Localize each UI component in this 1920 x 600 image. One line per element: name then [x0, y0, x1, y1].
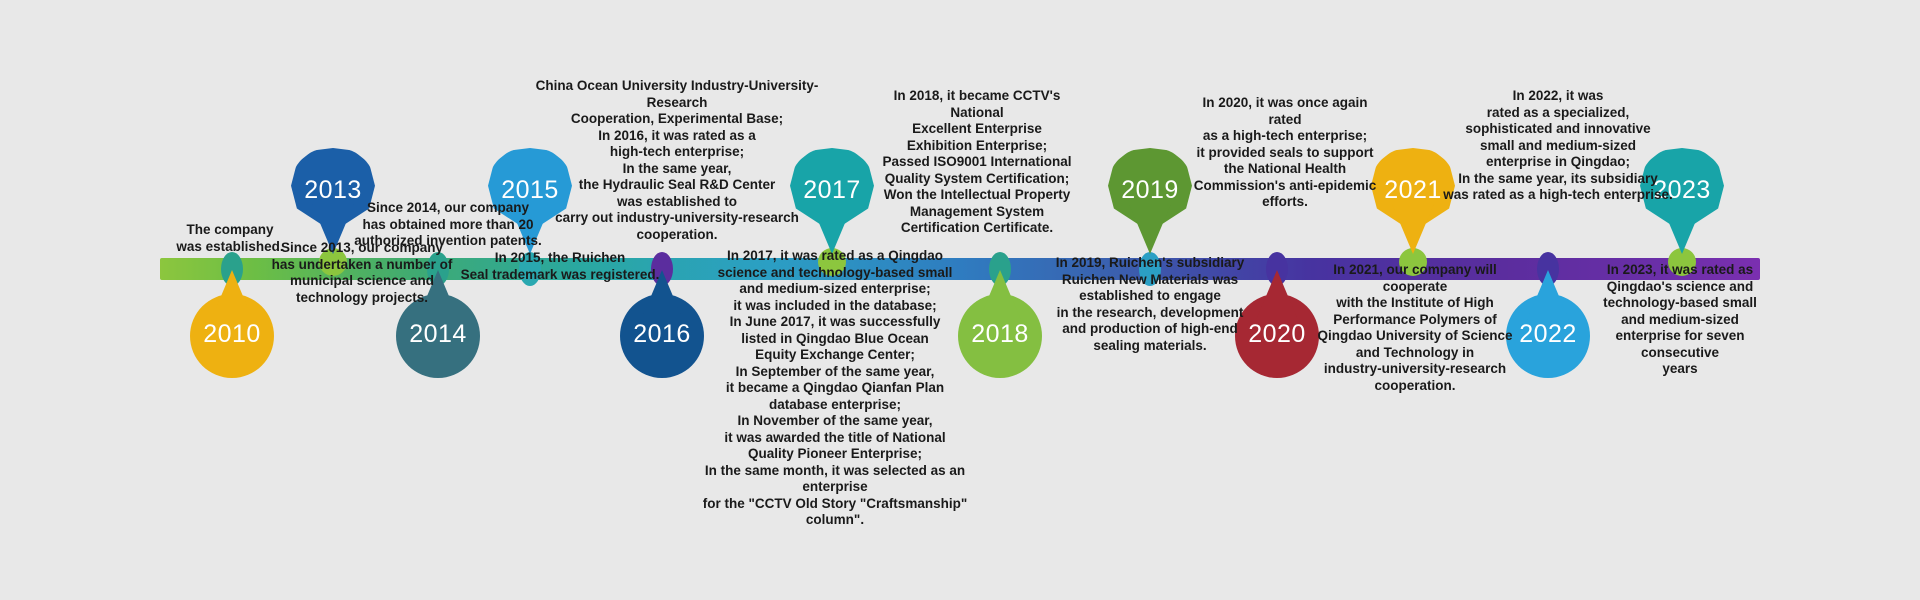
pin-year-label-2010: 2010 — [190, 320, 274, 349]
pin-year-label-2019: 2019 — [1108, 176, 1192, 205]
milestone-pin-2016[interactable]: 2016 — [620, 268, 704, 378]
milestone-description-2017: In 2018, it became CCTV's National Excel… — [872, 88, 1082, 237]
milestone-description-2022: In 2023, it was rated as Qingdao's scien… — [1595, 262, 1765, 378]
milestone-pin-2019[interactable]: 2019 — [1108, 148, 1192, 258]
timeline-diagram: 2010201320142015201620172018201920202021… — [0, 0, 1920, 600]
milestone-description-2019: In 2020, it was once again rated as a hi… — [1185, 95, 1385, 211]
milestone-description-2015: China Ocean University Industry-Universi… — [512, 78, 842, 243]
pin-year-label-2018: 2018 — [958, 320, 1042, 349]
milestone-description-2014: In 2015, the Ruichen Seal trademark was … — [460, 250, 660, 283]
pin-year-label-2014: 2014 — [396, 320, 480, 349]
milestone-pin-2018[interactable]: 2018 — [958, 268, 1042, 378]
milestone-description-2021: In 2022, it was rated as a specialized, … — [1443, 88, 1673, 204]
milestone-description-2016: In 2017, it was rated as a Qingdao scien… — [700, 248, 970, 529]
milestone-description-2020: In 2021, our company will cooperate with… — [1300, 262, 1530, 394]
milestone-description-2018: In 2019, Ruichen's subsidiary Ruichen Ne… — [1050, 255, 1250, 354]
pin-year-label-2016: 2016 — [620, 320, 704, 349]
company-founded-label: The company was established. — [150, 222, 310, 255]
